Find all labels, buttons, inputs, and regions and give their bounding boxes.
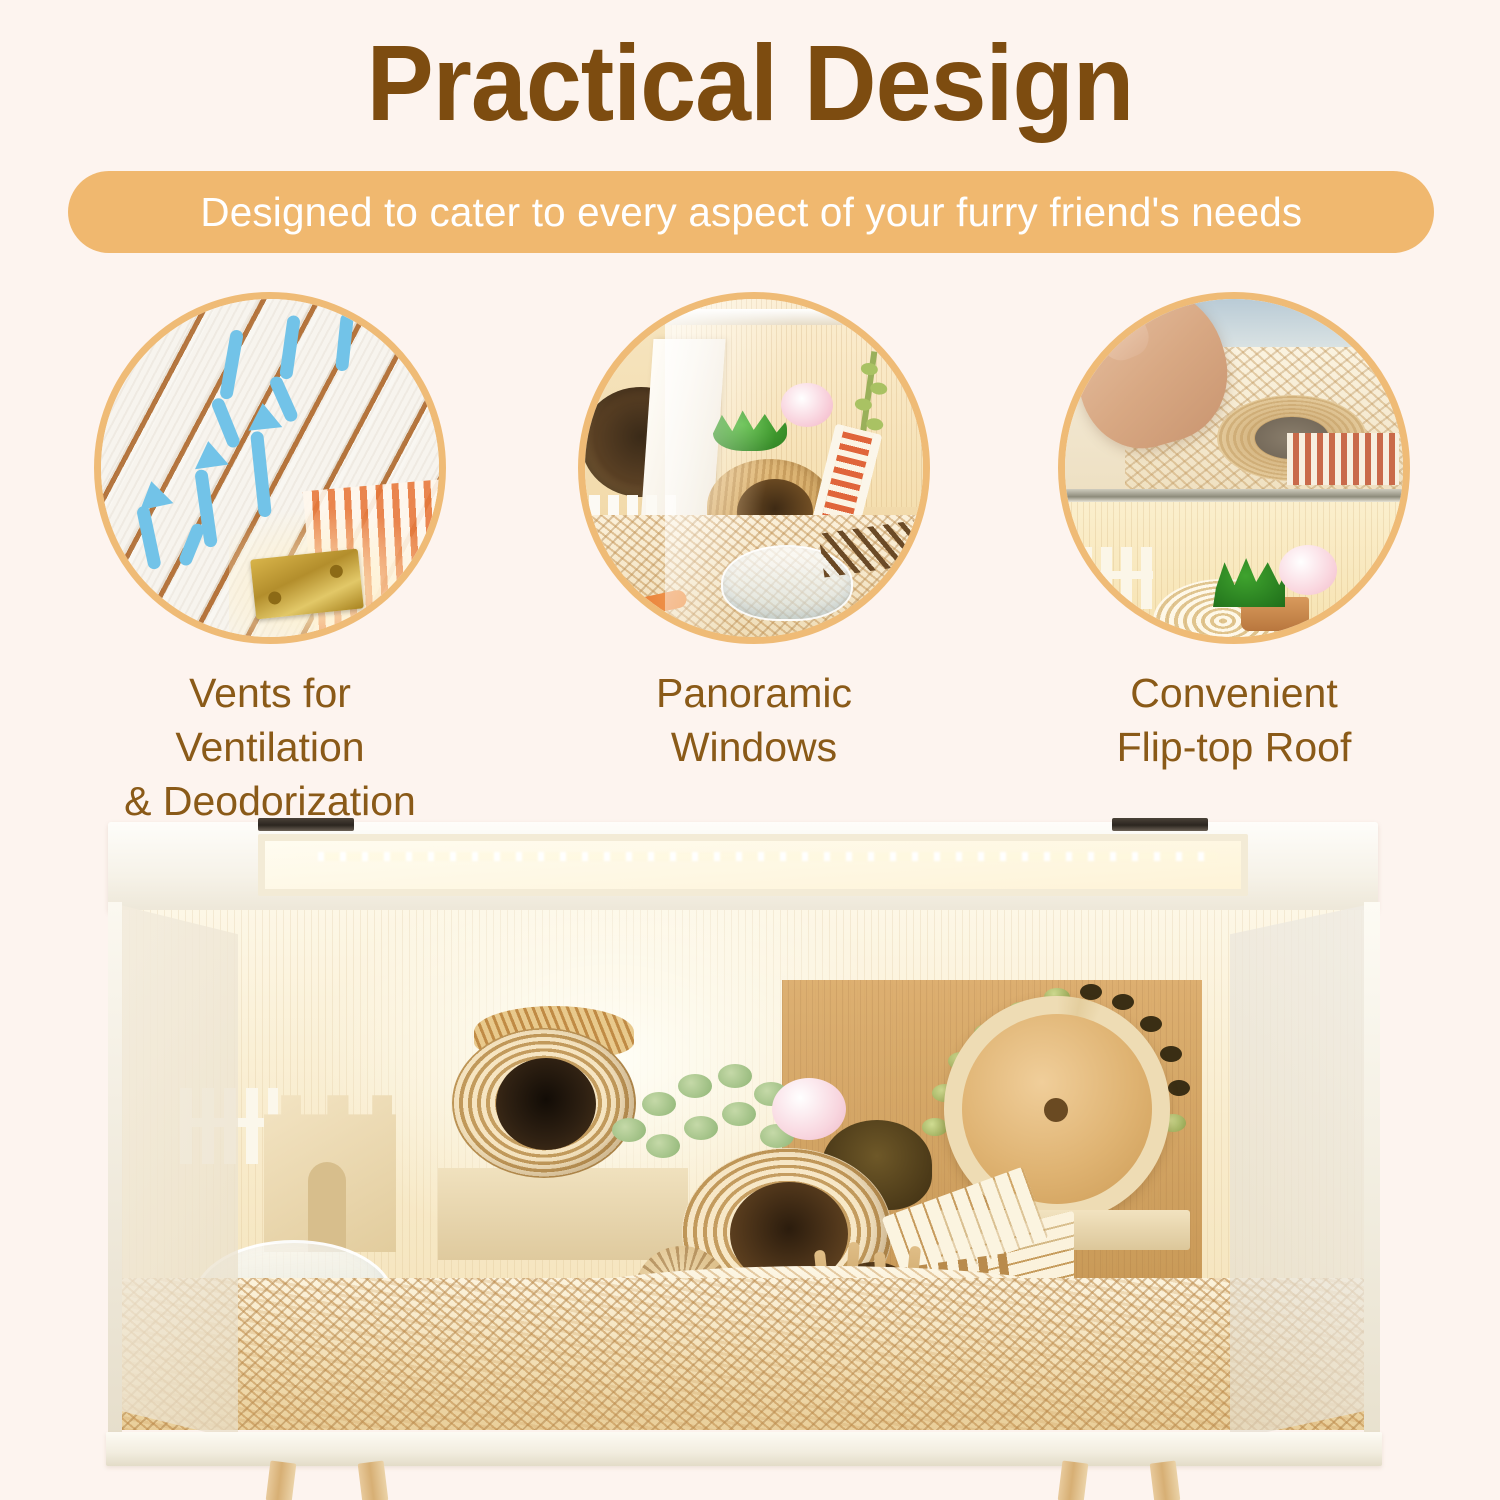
hamster-wheel-hub xyxy=(1044,1098,1068,1122)
cage-leg xyxy=(358,1461,389,1500)
feature-list: Vents for Ventilation & Deodorization xyxy=(0,292,1500,762)
caption-line-1: Vents for Ventilation xyxy=(94,666,446,774)
cage-body xyxy=(108,902,1380,1440)
picket-fence xyxy=(1065,547,1153,609)
side-panel-right xyxy=(1230,902,1380,1440)
lid-hinge-left xyxy=(258,818,354,831)
roof-glass-edge xyxy=(1065,489,1403,502)
feature-caption-flip-top-roof: Convenient Flip-top Roof xyxy=(1058,666,1410,774)
base-rail xyxy=(106,1432,1382,1466)
caption-line-1: Convenient xyxy=(1058,666,1410,720)
castle-doorway xyxy=(308,1162,346,1252)
left-frame-post xyxy=(108,902,122,1440)
cage-leg xyxy=(1058,1461,1089,1500)
glass-glare xyxy=(665,299,795,637)
striped-ladder-detail xyxy=(1287,433,1399,485)
subtitle-text: Designed to cater to every aspect of you… xyxy=(200,189,1302,236)
top-down-view xyxy=(1065,299,1403,495)
feature-image-panoramic-windows xyxy=(578,292,930,644)
caption-line-2: Flip-top Roof xyxy=(1058,720,1410,774)
cage-leg xyxy=(266,1461,297,1500)
pink-flower xyxy=(1279,545,1337,595)
cage-interior xyxy=(122,910,1366,1430)
feature-image-ventilation xyxy=(94,292,446,644)
caption-line-2: Windows xyxy=(578,720,930,774)
led-light-strip xyxy=(318,852,1218,861)
pink-flower xyxy=(772,1078,846,1140)
feature-item-panoramic-windows: Panoramic Windows xyxy=(578,292,930,774)
lid-acrylic-window xyxy=(258,834,1248,896)
page-title: Practical Design xyxy=(53,18,1448,148)
lower-wall-panel xyxy=(1065,502,1403,637)
feature-image-flip-top-roof xyxy=(1058,292,1410,644)
brass-hinge xyxy=(250,549,364,620)
right-frame-post xyxy=(1364,902,1380,1440)
product-photo xyxy=(0,800,1500,1500)
feature-item-flip-top-roof: Convenient Flip-top Roof xyxy=(1058,292,1410,774)
feature-item-ventilation: Vents for Ventilation & Deodorization xyxy=(94,292,446,828)
subtitle-banner: Designed to cater to every aspect of you… xyxy=(68,171,1434,253)
caption-line-1: Panoramic xyxy=(578,666,930,720)
bedding-shavings xyxy=(122,1278,1366,1430)
feature-caption-panoramic-windows: Panoramic Windows xyxy=(578,666,930,774)
flip-top-lid xyxy=(108,822,1378,912)
cage-leg xyxy=(1150,1461,1181,1500)
lid-hinge-right xyxy=(1112,818,1208,831)
side-panel-left xyxy=(108,902,238,1440)
green-plant-leaf xyxy=(1213,555,1285,607)
